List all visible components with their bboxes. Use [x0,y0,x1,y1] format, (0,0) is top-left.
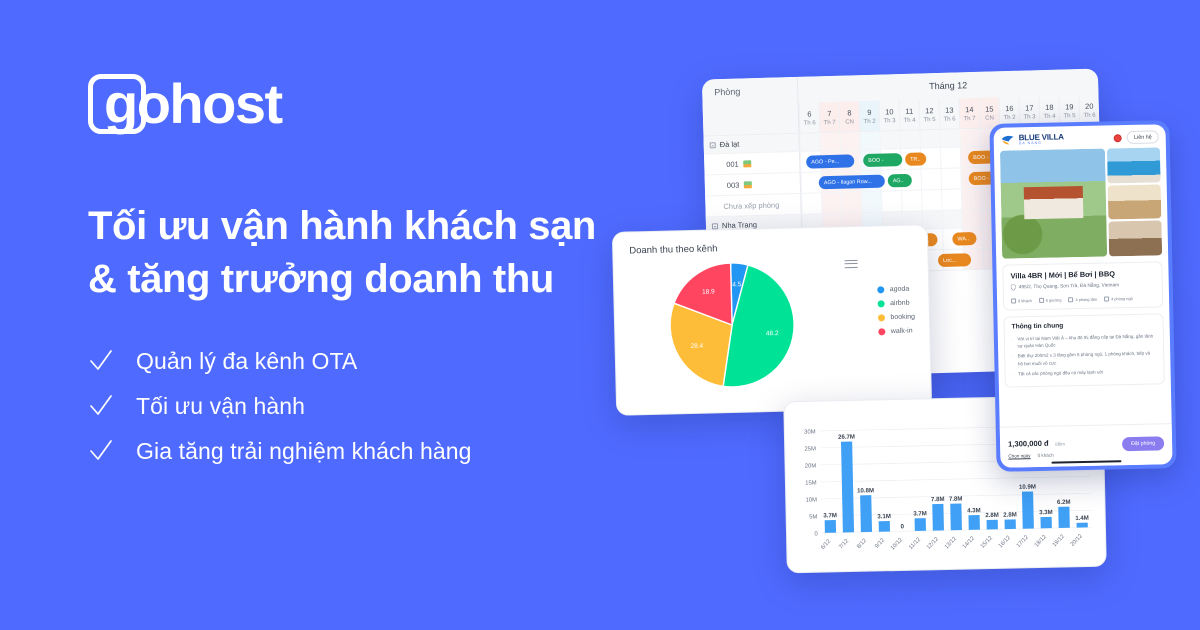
calendar-cell[interactable] [879,131,899,149]
row-label-text: Đà lạt [720,140,740,150]
description-list: ·Với vị trí tại Nam Việt Á – khu đô thị … [1012,332,1157,377]
book-now-button[interactable]: Đặt phòng [1122,436,1164,451]
x-axis-tick-label: 14/12 [962,536,976,551]
headline-line-1: Tối ưu vận hành khách sạn [88,200,648,253]
day-number: 8 [847,108,851,117]
guest-icon [1011,298,1016,303]
bar[interactable] [915,518,926,531]
legend-item[interactable]: agoda [878,286,915,294]
amenity-label: 4 phòng ngủ [1111,296,1133,301]
row-label-text: Chưa xếp phòng [723,200,779,211]
bar-data-label: 3.7M [823,512,837,519]
list-item: Quản lý đa kênh OTA [88,348,648,375]
bar-data-label: 6.2M [1057,499,1071,506]
legend-color-dot [879,328,886,335]
x-axis-tick-label: 9/12 [874,538,886,550]
language-globe-icon[interactable] [1114,134,1122,142]
legend-item[interactable]: airbnb [878,300,915,308]
booking-bar[interactable]: AGO - Pe... [806,154,854,168]
bar-data-label: 2.8M [985,512,999,519]
gallery-main-photo[interactable] [1000,149,1108,259]
calendar-day-header[interactable]: 7Th 7 [819,102,840,133]
calendar-cell[interactable] [941,189,962,210]
calendar-cell[interactable] [801,193,822,214]
calendar-day-header[interactable]: 6Th 6 [799,102,820,133]
x-axis-tick-label: 19/12 [1052,534,1066,549]
calendar-room-column-header: Phòng [702,77,800,136]
day-weekday: Th 6 [804,120,816,126]
bar[interactable] [1022,491,1034,528]
calendar-day-header[interactable]: 14Th 7 [959,98,980,129]
headline-line-2: & tăng trưởng doanh thu [88,253,648,306]
day-weekday: Th 6 [1083,112,1095,118]
collapse-toggle-icon[interactable] [710,142,716,148]
booking-bar[interactable]: AGO - Ilagan Row... [819,175,885,190]
listing-info-card: Thông tin chung ·Với vị trí tại Nam Việt… [1003,313,1164,387]
booking-bar[interactable]: BOO - [863,153,902,167]
row-label: Chưa xếp phòng [705,194,802,217]
bar-data-label: 0 [901,523,905,530]
day-weekday: CN [845,119,854,125]
room-column-label: Phòng [702,77,798,106]
day-weekday: Th 5 [924,117,936,123]
day-weekday: Th 4 [1043,113,1055,119]
bar[interactable] [879,521,890,532]
calendar-day-header[interactable]: 15CN [979,97,1000,128]
hamburger-menu-icon[interactable] [844,257,857,271]
bath-icon [1068,297,1073,302]
photo-gallery[interactable] [994,147,1168,259]
calendar-cell[interactable] [940,168,961,189]
logo-wordmark: gohost [104,72,282,136]
day-weekday: CN [985,115,994,121]
day-number: 17 [1025,103,1034,112]
amenity-item: 8 khách [1011,298,1032,303]
brand-sub: DA NANG [1019,141,1064,146]
day-number: 9 [867,107,871,116]
room-status-icon [743,181,751,188]
amenity-label: 8 khách [1018,298,1032,303]
booking-bar[interactable]: TR.. [905,152,926,166]
bar[interactable] [841,441,854,532]
calendar-day-header[interactable]: 9Th 2 [859,101,880,132]
x-axis-tick-label: 7/12 [838,538,850,550]
pie-slice-label: 48.2 [766,330,779,337]
x-axis-tick-label: 16/12 [998,535,1012,550]
day-weekday: Th 7 [824,119,836,125]
pie-slice-label: 18.9 [702,288,715,295]
listing-title: Villa 4BR | Mới | Bể Bơi | BBQ [1010,268,1154,280]
pie-chart-svg: 4.548.228.418.9 [666,258,799,391]
calendar-day-header[interactable]: 13Th 6 [939,98,960,129]
day-number: 18 [1045,102,1054,111]
legend-color-dot [878,300,885,307]
feature-list: Quản lý đa kênh OTA Tối ưu vận hành Gia … [88,348,648,465]
bar-data-label: 10.9M [1019,483,1036,490]
legend-color-dot [878,314,885,321]
page-title: Tối ưu vận hành khách sạn & tăng trưởng … [88,200,648,306]
calendar-cell[interactable] [921,190,942,211]
legend-label: booking [890,314,915,322]
calendar-cell[interactable] [841,192,862,213]
calendar-day-header[interactable]: 19Th 5 [1058,95,1079,126]
booking-footer: 1,300,000 đ /đêm Chọn ngày 0 khách Đặt p… [1000,423,1173,468]
day-number: 11 [905,106,913,115]
calendar-day-header[interactable]: 11Th 4 [899,100,920,131]
x-axis-tick-label: 13/12 [944,536,958,551]
pie-slice-label: 4.5 [732,281,742,288]
bar[interactable] [950,503,962,530]
x-axis-tick-label: 8/12 [856,538,868,550]
bar-data-label: 4.3M [967,507,981,514]
legend-label: walk-in [891,328,913,336]
description-bullet: ·Biệt thự 200m2 x 3 tầng gồm 5 phòng ngủ… [1012,350,1156,367]
feature-label: Gia tăng trải nghiệm khách hàng [136,438,472,465]
blue-villa-logo: BLUE VILLA DA NANG [1001,133,1064,146]
address-text: 495/2, Thọ Quang, Sơn Trà, Đà Nẵng, Viet… [1019,283,1119,290]
day-weekday: Th 3 [1023,114,1035,120]
x-axis-tick-label: 20/12 [1070,533,1084,548]
marketing-column: gohost Tối ưu vận hành khách sạn & tăng … [88,72,648,483]
y-axis-tick-label: 0 [814,531,818,537]
day-weekday: Th 6 [943,116,955,122]
x-axis-tick-label: 15/12 [980,535,994,550]
bar-data-label: 3.7M [913,510,927,517]
pie-slice-label: 28.4 [690,343,703,350]
x-axis-tick-label: 18/12 [1034,534,1048,549]
description-text: Tất cả các phòng ngủ đều có máy lạnh với [1018,368,1103,377]
price-unit: /đêm [1055,441,1065,446]
revenue-by-channel-chart[interactable]: Doanh thu theo kênh 4.548.228.418.9 agod… [612,224,932,416]
calendar-day-header[interactable]: 12Th 5 [919,99,940,130]
calendar-cell[interactable] [861,192,882,213]
day-number: 19 [1065,102,1074,111]
calendar-day-header[interactable]: 20Th 6 [1078,95,1099,126]
legend-color-dot [878,286,885,293]
guest-count[interactable]: 0 khách [1038,453,1054,458]
gallery-photo-bedroom[interactable] [1109,221,1162,257]
y-axis-tick-label: 10M [806,497,818,503]
bar[interactable] [1077,523,1088,528]
bar-data-label: 3.1M [877,513,891,520]
feature-label: Tối ưu vận hành [136,393,305,420]
calendar-cell[interactable] [901,191,922,212]
day-weekday: Th 4 [904,117,916,123]
bullet-marker: · [1013,370,1015,377]
x-axis-tick-label: 17/12 [1016,534,1030,549]
row-label: Đà lạt [703,134,799,154]
chart-legend[interactable]: agodaairbnbbookingwalk-in [878,286,916,343]
collapse-toggle-icon[interactable] [712,223,718,229]
y-axis-tick-label: 25M [804,446,816,452]
check-icon [88,393,114,419]
feature-label: Quản lý đa kênh OTA [136,348,357,375]
listing-address: 495/2, Thọ Quang, Sơn Trà, Đà Nẵng, Viet… [1011,281,1155,290]
day-number: 14 [965,105,974,114]
y-axis-tick-label: 5M [809,514,817,520]
price-value: 1,300,000 đ [1008,439,1049,449]
date-picker-link[interactable]: Chọn ngày [1008,453,1030,458]
day-number: 10 [885,107,894,116]
day-weekday: Th 2 [1003,114,1015,120]
x-axis-tick-label: 11/12 [908,537,922,551]
bar[interactable] [1058,507,1070,528]
bar[interactable] [860,495,872,532]
booking-bar[interactable]: AG.. [888,174,912,188]
amenity-item: 4 phòng ngủ [1104,296,1133,302]
amenity-label: 6 giường [1046,297,1062,302]
calendar-cell[interactable] [799,133,819,151]
calendar-cell[interactable] [959,129,979,147]
check-icon [88,438,114,464]
list-item: Tối ưu vận hành [88,393,648,420]
calendar-cell[interactable] [919,130,939,148]
gohost-logo: gohost [88,72,348,136]
calendar-cell[interactable] [839,132,859,150]
bar[interactable] [968,515,979,530]
row-label-text: 001 [726,159,739,168]
description-bullet: ·Tất cả các phòng ngủ đều có máy lạnh vớ… [1013,367,1157,377]
calendar-cell[interactable] [819,133,839,151]
bar-data-label: 7.8M [949,496,963,503]
amenity-item: 6 giường [1039,297,1062,302]
bar[interactable] [932,504,944,531]
list-item: Gia tăng trải nghiệm khách hàng [88,438,648,465]
bird-icon [1001,134,1016,145]
listing-summary-card: Villa 4BR | Mới | Bể Bơi | BBQ 495/2, Th… [1002,261,1163,310]
calendar-cell[interactable] [939,129,959,147]
row-label: 001 [704,152,801,175]
day-number: 15 [985,104,994,113]
day-number: 20 [1085,101,1094,110]
legend-label: airbnb [890,300,910,307]
calendar-cell[interactable] [859,132,879,150]
bar-data-label: 26.7M [838,434,855,441]
check-icon [88,348,114,374]
description-text: Với vị trí tại Nam Việt Á – khu đô thị đ… [1017,332,1156,349]
bedroom-icon [1104,296,1109,301]
x-axis-tick-label: 6/12 [820,539,832,551]
day-number: 16 [1005,103,1014,112]
calendar-cell[interactable] [940,147,961,168]
calendar-day-header[interactable]: 8CN [839,101,860,132]
y-axis-tick-label: 15M [805,480,817,486]
room-status-icon [743,160,751,167]
bullet-marker: · [1012,353,1014,367]
calendar-cell[interactable] [961,189,982,210]
bar[interactable] [987,520,998,530]
day-number: 13 [945,105,954,114]
legend-item[interactable]: booking [878,314,915,322]
calendar-cell[interactable] [942,210,962,228]
day-number: 7 [827,108,831,117]
bar[interactable] [825,520,836,533]
amenity-list: 8 khách6 giường4 phòng tắm4 phòng ngủ [1011,295,1155,303]
y-axis-tick-label: 20M [805,463,817,469]
calendar-cell[interactable] [920,169,941,190]
bar[interactable] [1040,517,1051,528]
bar-data-label: 10.8M [857,487,874,494]
legend-item[interactable]: walk-in [879,328,916,336]
day-number: 12 [925,106,934,115]
home-indicator [1051,460,1121,464]
section-title: Thông tin chung [1012,320,1156,330]
row-label: 003 [705,173,802,196]
y-axis-tick-label: 30M [804,429,816,435]
description-text: Biệt thự 200m2 x 3 tầng gồm 5 phòng ngủ,… [1018,350,1157,367]
booking-bar[interactable]: WA.. [952,232,976,246]
day-weekday: Th 7 [963,115,975,121]
day-weekday: Th 5 [1063,113,1075,119]
amenity-label: 4 phòng tắm [1075,297,1097,302]
amenity-item: 4 phòng tắm [1068,297,1097,303]
calendar-day-header[interactable]: 10Th 3 [879,100,900,131]
x-axis-tick-label: 12/12 [926,536,940,551]
gallery-photo-pool[interactable] [1107,147,1160,183]
property-listing-panel[interactable]: BLUE VILLA DA NANG Liên hệ [989,120,1176,472]
bar[interactable] [1005,519,1016,529]
calendar-cell[interactable] [962,210,982,228]
location-pin-icon [1011,284,1016,290]
calendar-cell[interactable] [821,193,842,214]
day-weekday: Th 3 [884,118,896,124]
calendar-cell[interactable] [881,191,902,212]
bed-icon [1039,298,1044,303]
bar-data-label: 7.8M [931,496,945,503]
gridline [820,476,1090,482]
booking-bar[interactable]: Loc... [938,253,971,267]
bar-data-label: 3.3M [1039,509,1053,516]
bar-data-label: 1.4M [1075,515,1089,522]
calendar-cell[interactable] [922,211,942,229]
day-number: 6 [807,109,811,118]
legend-label: agoda [890,286,910,293]
day-weekday: Th 2 [864,118,876,124]
bar-data-label: 2.8M [1003,511,1017,518]
calendar-cell[interactable] [899,131,919,149]
promo-banner: gohost Tối ưu vận hành khách sạn & tăng … [0,0,1200,630]
bullet-marker: · [1012,335,1014,349]
gallery-photo-living[interactable] [1108,184,1161,220]
contact-button[interactable]: Liên hệ [1127,130,1159,144]
row-label-text: 003 [727,180,740,189]
x-axis-tick-label: 10/12 [890,537,904,552]
description-bullet: ·Với vị trí tại Nam Việt Á – khu đô thị … [1012,332,1156,349]
